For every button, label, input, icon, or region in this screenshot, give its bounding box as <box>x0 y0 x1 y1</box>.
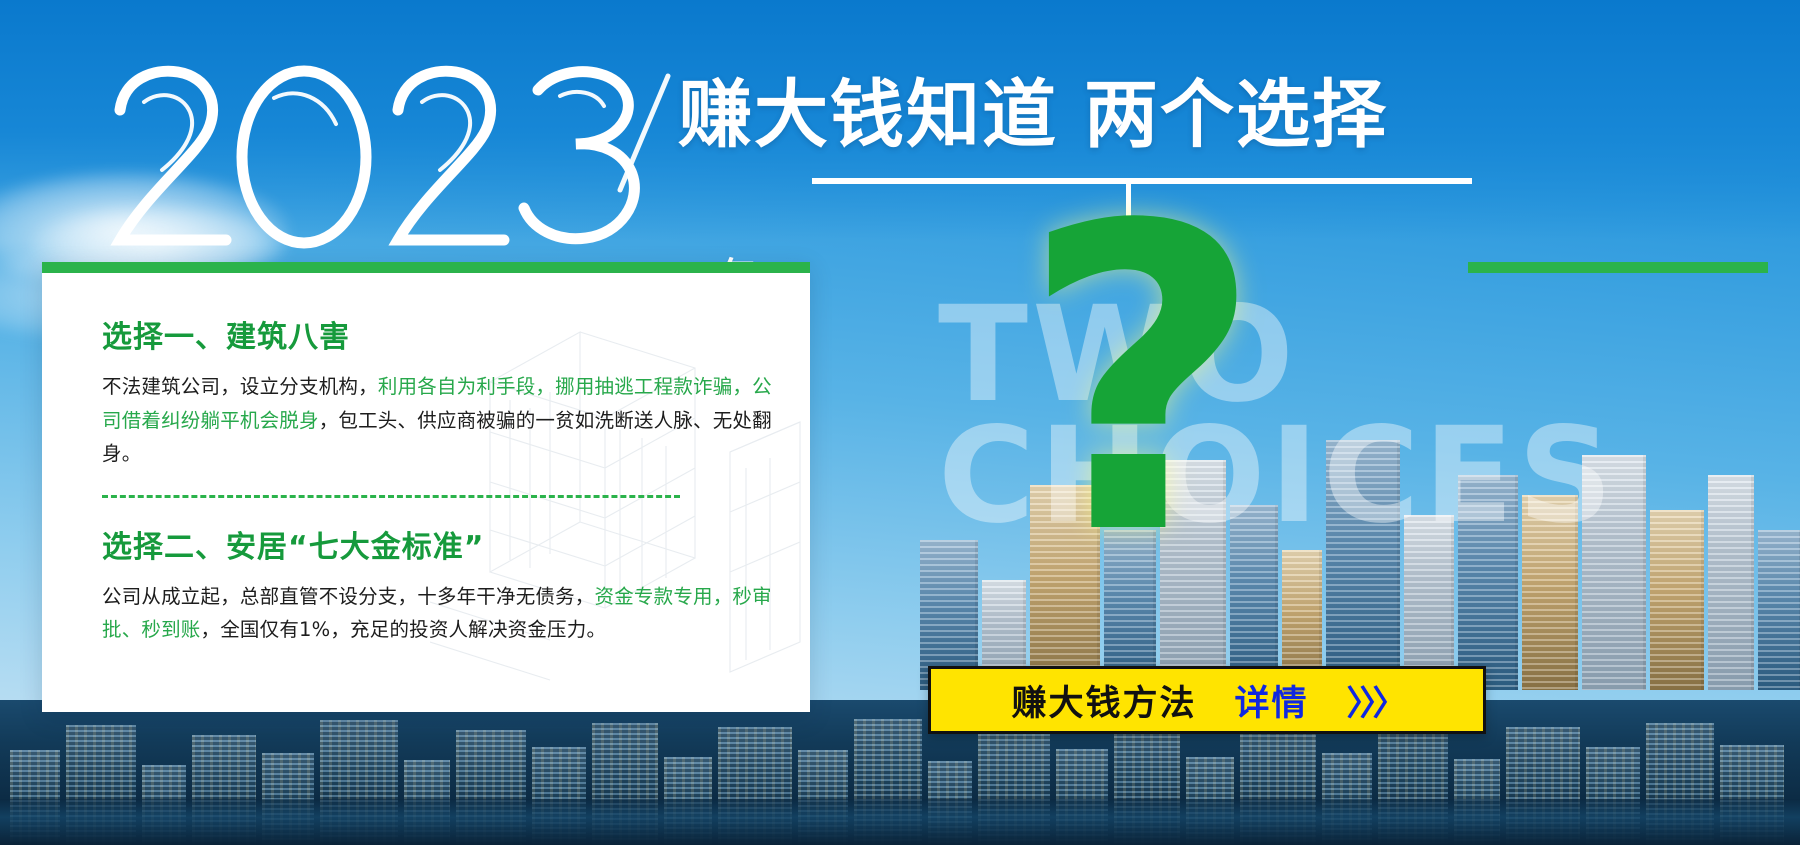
headline-part-1: 赚大钱知道 <box>678 72 1058 158</box>
content-card: 选择一、建筑八害 不法建筑公司，设立分支机构，利用各自为利手段，挪用抽逃工程款诈… <box>42 262 810 712</box>
section-2-text-plain-1: 公司从成立起，总部直管不设分支，十多年干净无债务， <box>102 585 595 608</box>
card-content: 选择一、建筑八害 不法建筑公司，设立分支机构，利用各自为利手段，挪用抽逃工程款诈… <box>42 262 810 647</box>
green-accent-bar-right <box>1468 262 1768 273</box>
section-1-body: 不法建筑公司，设立分支机构，利用各自为利手段，挪用抽逃工程款诈骗，公司借着纠纷躺… <box>102 370 780 471</box>
section-2-text-plain-2: ，全国仅有1%，充足的投资人解决资金压力。 <box>201 618 607 641</box>
cta-main-label: 赚大钱方法 <box>1011 675 1196 726</box>
section-1-title: 选择一、建筑八害 <box>102 312 776 356</box>
year-graphic: 年 <box>108 62 708 257</box>
cityscape-photo-bottom <box>0 700 1800 845</box>
section-2-body: 公司从成立起，总部直管不设分支，十多年干净无债务，资金专款专用，秒审批、秒到账，… <box>102 580 780 647</box>
section-1-text-plain-1: 不法建筑公司，设立分支机构， <box>102 375 378 398</box>
section-2-title: 选择二、安居“七大金标准” <box>102 522 776 566</box>
year-2023-outline <box>108 62 708 257</box>
chevron-right-icon: 〉〉〉 <box>1347 676 1403 725</box>
section-divider <box>102 495 680 498</box>
question-mark-icon: ? <box>1020 215 1264 551</box>
cta-link-label[interactable]: 详情 <box>1235 675 1309 726</box>
promo-banner: 年 赚大钱知道两个选择 TWO CHOICES ? <box>0 0 1800 845</box>
cta-button[interactable]: 赚大钱方法 详情 〉〉〉 <box>928 666 1486 734</box>
water-reflection <box>0 799 1800 845</box>
